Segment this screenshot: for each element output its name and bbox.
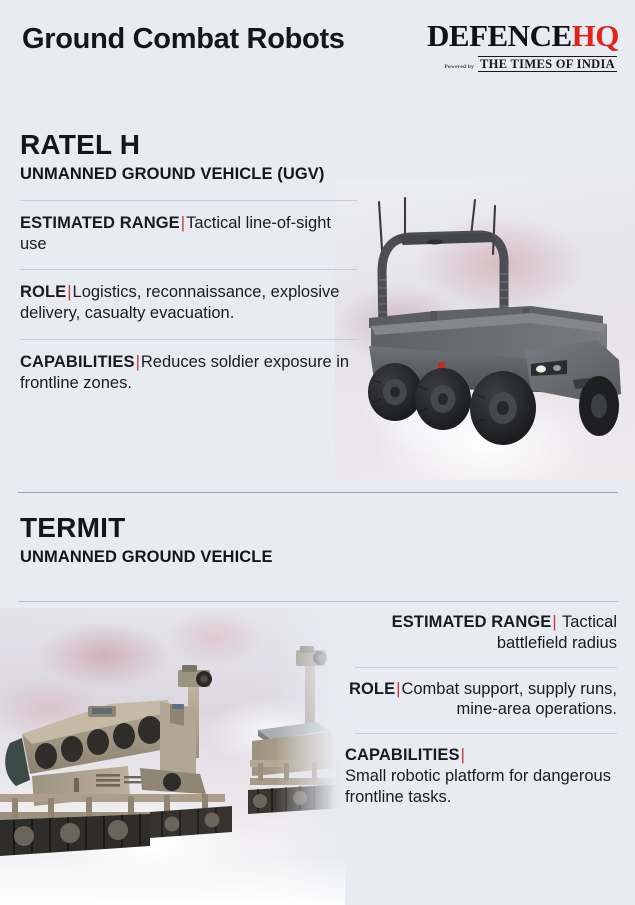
fact-label: CAPABILITIES xyxy=(345,746,460,764)
termit-fact-role: ROLE|Combat support, supply runs, mine-a… xyxy=(345,679,617,721)
ratel-h-subtitle: UNMANNED GROUND VEHICLE (UGV) xyxy=(20,165,360,184)
page-title: Ground Combat Robots xyxy=(22,22,382,56)
header: Ground Combat Robots DEFENCEHQ Powered b… xyxy=(0,0,635,118)
termit-divider xyxy=(18,601,618,602)
termit-heading-block: TERMIT UNMANNED GROUND VEHICLE xyxy=(20,513,440,568)
termit-fact-capabilities: CAPABILITIES|Small robotic platform for … xyxy=(345,745,617,807)
brand-publisher-name: THE TIMES OF INDIA xyxy=(478,56,617,72)
fact-label: ESTIMATED RANGE xyxy=(20,214,180,232)
ratel-h-fact-estimated-range: ESTIMATED RANGE|Tactical line-of-sight u… xyxy=(20,213,360,255)
ratel-h-vehicle-illustration xyxy=(335,180,635,480)
section-divider xyxy=(18,492,618,493)
ratel-h-vehicle-image xyxy=(335,180,635,480)
fact-separator: | xyxy=(460,746,466,764)
brand-name-defence: DEFENCE xyxy=(427,18,572,53)
termit-vehicle-image xyxy=(0,608,345,905)
image-fade-bottom xyxy=(0,857,345,905)
brand-logo: DEFENCEHQ Powered by THE TIMES OF INDIA xyxy=(427,20,617,72)
fact-label: ROLE xyxy=(349,680,395,698)
fact-label: ESTIMATED RANGE xyxy=(392,613,552,631)
ratel-h-fact-capabilities: CAPABILITIES|Reduces soldier exposure in… xyxy=(20,352,360,394)
termit-title: TERMIT xyxy=(20,513,440,542)
brand-wordmark: DEFENCEHQ xyxy=(427,20,617,51)
fact-label: CAPABILITIES xyxy=(20,353,135,371)
fact-value: Combat support, supply runs, mine-area o… xyxy=(401,680,617,719)
termit-subtitle: UNMANNED GROUND VEHICLE xyxy=(20,548,440,567)
ratel-h-title: RATEL H xyxy=(20,130,360,159)
brand-name-hq: HQ xyxy=(572,18,619,53)
infographic-page: Ground Combat Robots DEFENCEHQ Powered b… xyxy=(0,0,635,905)
termit-fact-estimated-range: ESTIMATED RANGE| Tactical battlefield ra… xyxy=(345,612,617,654)
ratel-h-text-block: RATEL H UNMANNED GROUND VEHICLE (UGV) ES… xyxy=(20,130,360,394)
fact-label: ROLE xyxy=(20,283,66,301)
brand-publisher-line: Powered by THE TIMES OF INDIA xyxy=(427,56,617,72)
fact-separator: | xyxy=(551,613,557,631)
termit-text-block: ESTIMATED RANGE| Tactical battlefield ra… xyxy=(345,612,617,807)
brand-powered-by-label: Powered by xyxy=(444,64,474,72)
ratel-h-fact-role: ROLE|Logistics, reconnaissance, explosiv… xyxy=(20,282,360,324)
fact-value: Small robotic platform for dangerous fro… xyxy=(345,767,611,806)
